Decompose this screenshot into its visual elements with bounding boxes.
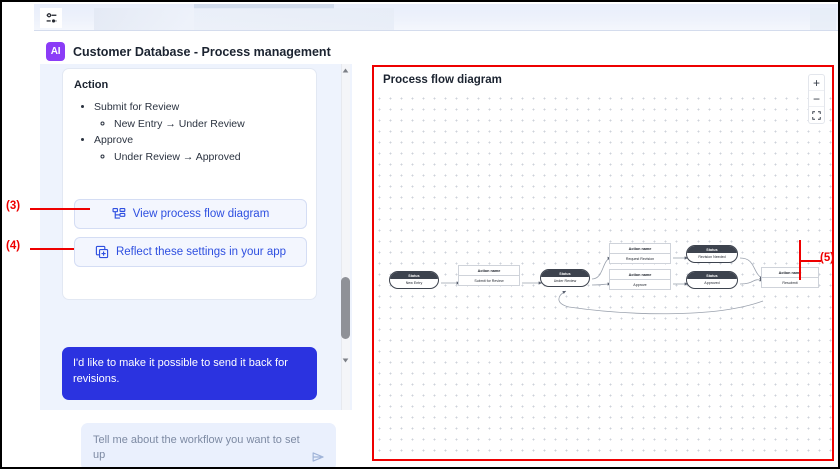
annotation-marker-4: (4) [6, 240, 20, 252]
action-summary-card: Action Submit for Review New Entry → Und… [62, 68, 317, 300]
zoom-controls: + − [808, 74, 825, 124]
node-label: Approve [610, 280, 670, 289]
fit-view-button[interactable] [809, 107, 824, 123]
list-item: Approve Under Review → Approved [94, 132, 308, 165]
diagram-node-new-entry[interactable]: StatusNew Entry [389, 271, 439, 289]
topbar-blur-middle [194, 8, 394, 30]
copy-plus-icon [95, 245, 109, 259]
chat-scrollbar-thumb[interactable] [341, 277, 350, 339]
node-header: Action name [610, 244, 670, 254]
app-logo: AI [46, 42, 65, 61]
zoom-out-button[interactable]: − [809, 91, 824, 107]
chat-panel: Action Submit for Review New Entry → Und… [40, 64, 352, 469]
send-icon[interactable] [311, 449, 327, 465]
caret-up-icon[interactable] [341, 66, 350, 75]
view-process-flow-diagram-button[interactable]: View process flow diagram [74, 199, 307, 229]
app-header: AI Customer Database - Process managemen… [46, 42, 331, 61]
node-label: Request Revision [610, 254, 670, 263]
node-header: Status [390, 272, 438, 279]
diagram-node-request-revision[interactable]: Action nameRequest Revision [609, 243, 671, 264]
composer-container: Tell me about the workflow you want to s… [34, 410, 358, 469]
annotation-leader-4 [30, 248, 74, 250]
node-label: Resubmit [762, 278, 818, 287]
topbar-blur-left [94, 8, 194, 30]
annotation-tick-5 [799, 240, 801, 280]
reflect-settings-button[interactable]: Reflect these settings in your app [74, 237, 307, 267]
action-label: Submit for Review [94, 101, 179, 113]
annotation-marker-3: (3) [6, 200, 20, 212]
annotation-leader-5 [799, 260, 821, 262]
node-label: Approved [687, 279, 737, 288]
chat-message-user: I'd like to make it possible to send it … [62, 347, 317, 400]
zoom-in-button[interactable]: + [809, 75, 824, 91]
node-header: Status [687, 246, 737, 253]
node-label: Under Review [541, 277, 589, 286]
node-label: Revision Needed [687, 253, 737, 262]
page-title: Customer Database - Process management [73, 45, 331, 59]
node-header: Status [687, 272, 737, 279]
topbar-blur-right [810, 8, 836, 30]
action-transition: New Entry → Under Review [114, 118, 245, 130]
list-item: Submit for Review New Entry → Under Revi… [94, 99, 308, 132]
diagram-panel[interactable]: Process flow diagram + − [372, 65, 834, 461]
node-header: Action name [762, 268, 818, 278]
flow-diagram-icon [112, 207, 126, 221]
diagram-panel-title: Process flow diagram [383, 74, 502, 86]
action-heading: Action [74, 79, 108, 91]
node-label: New Entry [390, 279, 438, 288]
screenshot-root: AI Customer Database - Process managemen… [0, 0, 840, 469]
button-label: View process flow diagram [133, 208, 270, 220]
node-header: Status [541, 270, 589, 277]
app-window: AI Customer Database - Process managemen… [34, 31, 840, 469]
sliders-icon[interactable] [40, 8, 62, 28]
chat-scrollbar-track[interactable] [341, 64, 350, 469]
node-label: Submit for Review [459, 276, 519, 285]
browser-topbar [34, 4, 840, 31]
caret-down-icon[interactable] [341, 356, 350, 365]
diagram-node-approved[interactable]: StatusApproved [686, 271, 738, 289]
chat-scroll-area: Action Submit for Review New Entry → Und… [40, 64, 340, 469]
diagram-node-approve[interactable]: Action nameApprove [609, 269, 671, 290]
button-label: Reflect these settings in your app [116, 246, 286, 258]
node-header: Action name [610, 270, 670, 280]
node-header: Action name [459, 266, 519, 276]
annotation-marker-5: (5) [820, 252, 834, 264]
action-list: Submit for Review New Entry → Under Revi… [76, 99, 308, 165]
diagram-node-under-review[interactable]: StatusUnder Review [540, 269, 590, 287]
message-input-placeholder: Tell me about the workflow you want to s… [93, 433, 308, 463]
annotation-leader-3 [30, 208, 90, 210]
list-item: Under Review → Approved [114, 149, 308, 166]
diagram-node-revision-needed[interactable]: StatusRevision Needed [686, 245, 738, 263]
diagram-node-submit-for-review[interactable]: Action nameSubmit for Review [458, 265, 520, 286]
action-label: Approve [94, 134, 133, 146]
diagram-node-resubmit[interactable]: Action nameResubmit [761, 267, 819, 288]
list-item: New Entry → Under Review [114, 116, 308, 133]
message-input[interactable]: Tell me about the workflow you want to s… [81, 423, 336, 469]
action-transition: Under Review → Approved [114, 151, 241, 163]
